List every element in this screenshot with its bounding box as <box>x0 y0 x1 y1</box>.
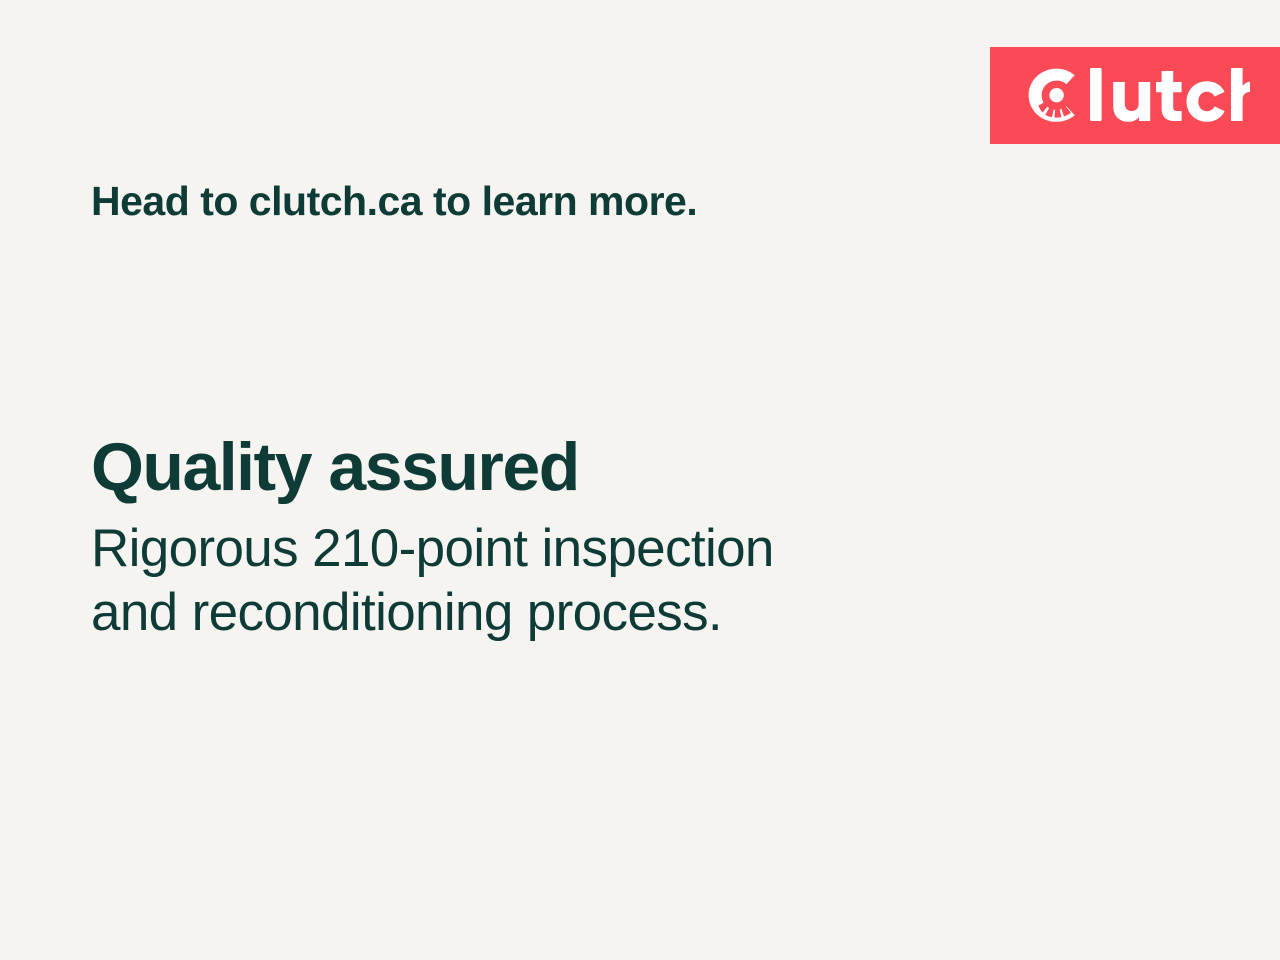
subheadline: Rigorous 210-point inspection and recond… <box>91 517 1071 646</box>
cta-eyebrow-text: Head to clutch.ca to learn more. <box>91 178 697 226</box>
subheadline-line-1: Rigorous 210-point inspection <box>91 517 1071 582</box>
clutch-plate-c-icon <box>1029 68 1077 121</box>
clutch-wordmark-icon <box>1028 67 1250 125</box>
message-block: Quality assured Rigorous 210-point inspe… <box>91 432 1071 646</box>
promo-slide: Head to clutch.ca to learn more. Quality… <box>0 0 1280 960</box>
subheadline-line-2: and reconditioning process. <box>91 581 1071 646</box>
headline: Quality assured <box>91 432 1071 503</box>
clutch-logo-badge[interactable] <box>990 47 1280 144</box>
